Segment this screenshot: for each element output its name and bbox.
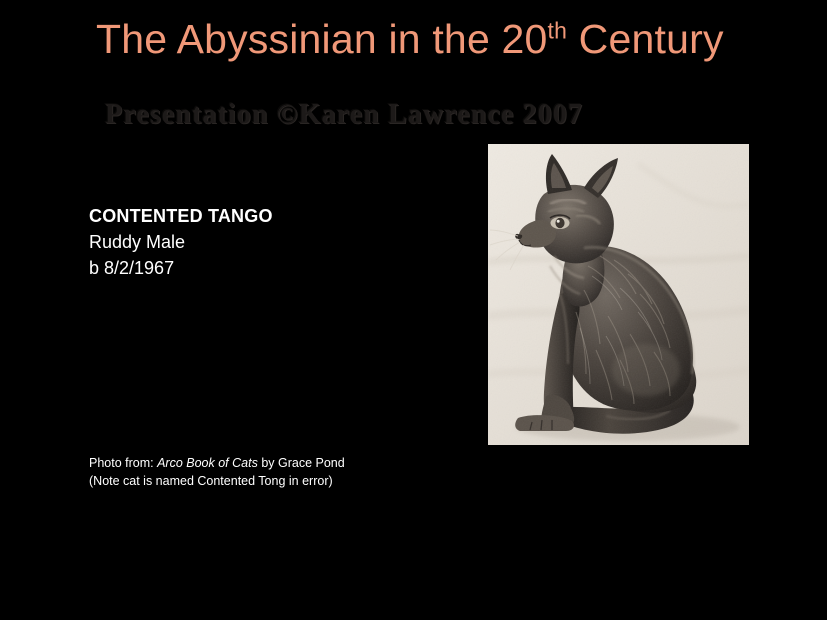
title-ordinal-superscript: th (548, 17, 568, 43)
cat-color-sex: Ruddy Male (89, 229, 429, 255)
photo-credit-prefix: Photo from: (89, 456, 157, 470)
copyright-watermark: Presentation ©Karen Lawrence 2007 (105, 99, 745, 131)
photo-credit-book-title: Arco Book of Cats (157, 456, 258, 470)
photo-credit-line-2: (Note cat is named Contented Tong in err… (89, 472, 469, 490)
cat-info-block: CONTENTED TANGO Ruddy Male b 8/2/1967 (89, 203, 429, 281)
title-text-main: The Abyssinian in the 20 (96, 16, 548, 62)
photo-credit-author: by Grace Pond (258, 456, 345, 470)
title-text-tail: Century (567, 16, 724, 62)
photo-credit-line-1: Photo from: Arco Book of Cats by Grace P… (89, 454, 469, 472)
page-title: The Abyssinian in the 20th Century (96, 16, 756, 63)
cat-photo-icon (488, 144, 749, 445)
cat-photograph (488, 144, 749, 445)
photo-credit: Photo from: Arco Book of Cats by Grace P… (89, 454, 469, 490)
cat-birth-date: b 8/2/1967 (89, 255, 429, 281)
presentation-slide: The Abyssinian in the 20th Century Prese… (0, 0, 827, 620)
cat-name: CONTENTED TANGO (89, 203, 429, 229)
